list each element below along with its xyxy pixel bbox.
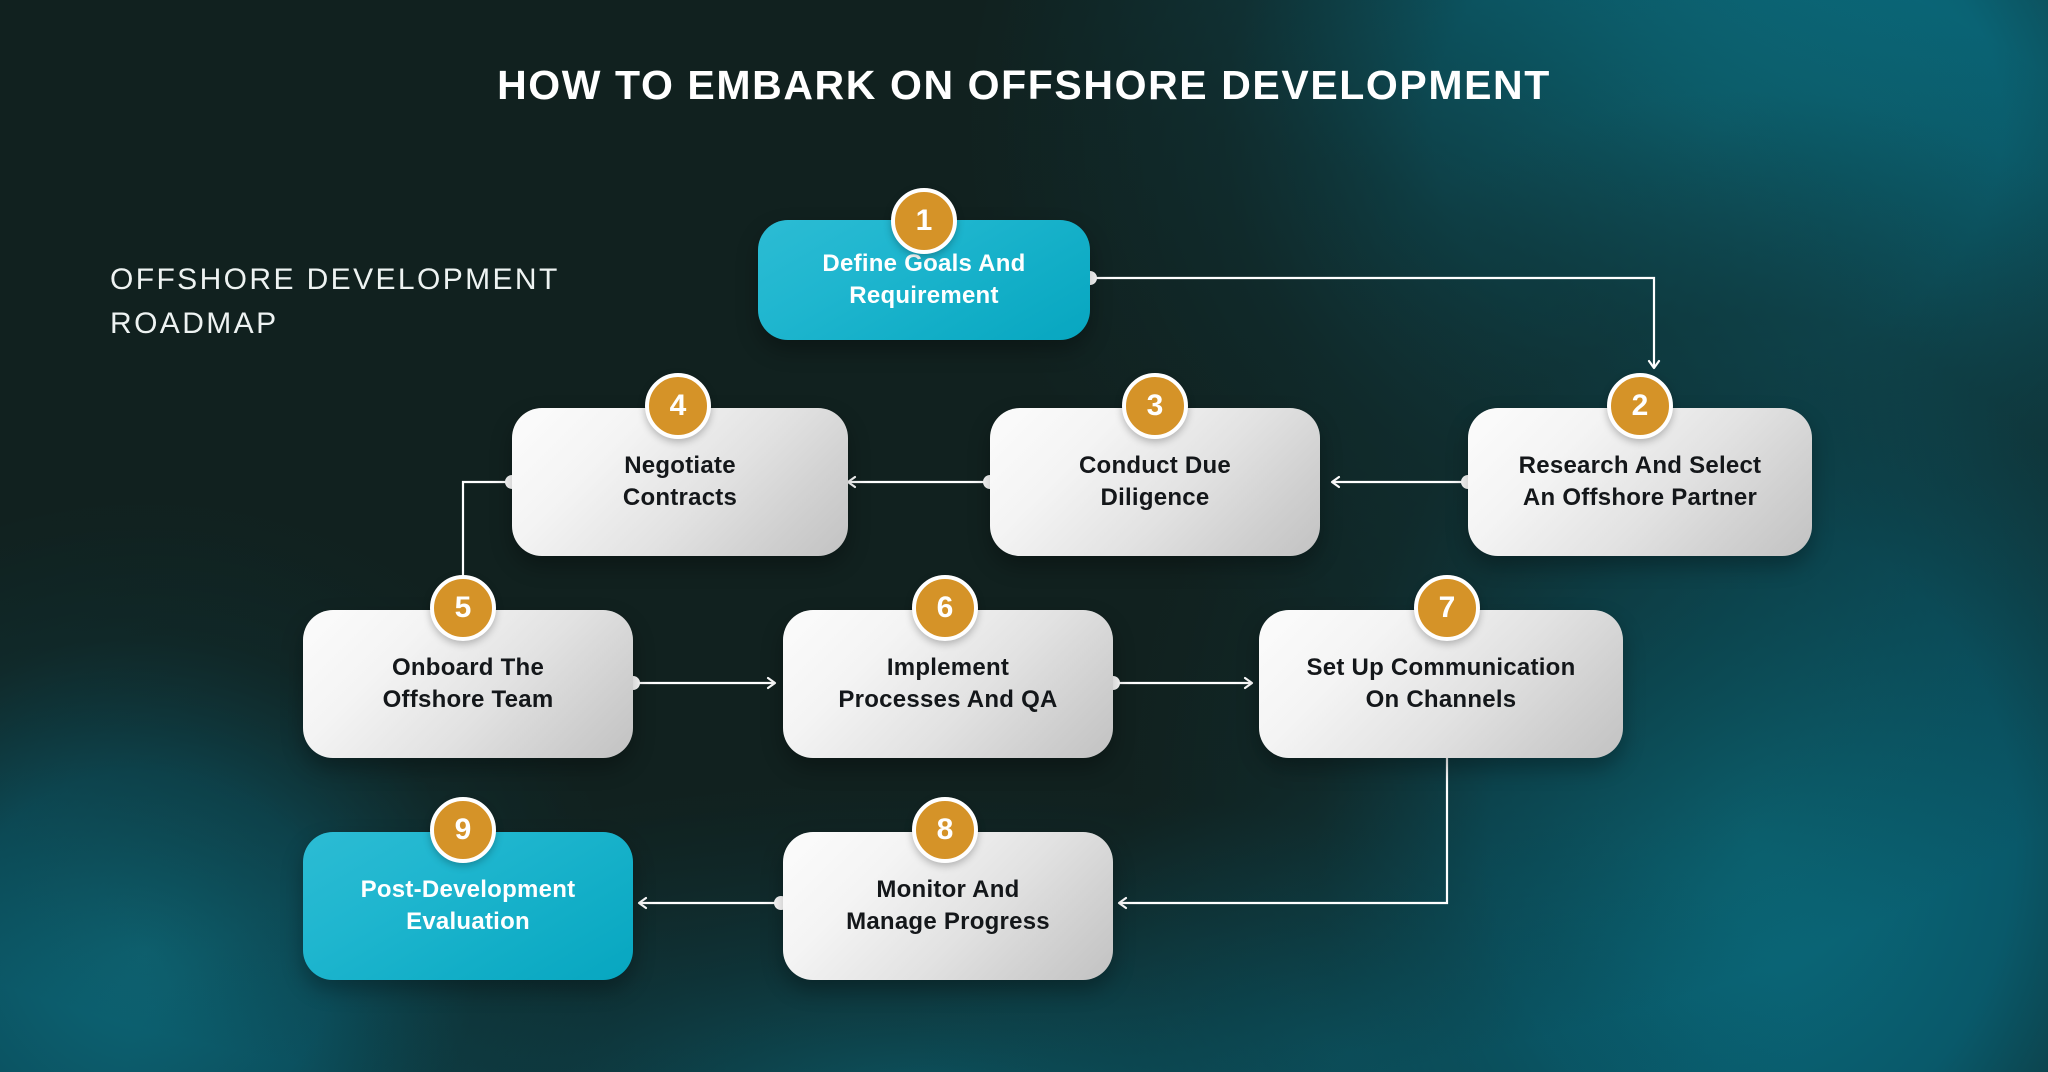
infographic-canvas: HOW TO EMBARK ON OFFSHORE DEVELOPMENT OF… xyxy=(0,0,2048,1072)
step-label-9: Post-Development Evaluation xyxy=(345,874,592,937)
background-glow-bottom-left xyxy=(0,502,620,1072)
roadmap-subtitle: OFFSHORE DEVELOPMENT ROADMAP xyxy=(110,258,650,347)
step-badge-6: 6 xyxy=(912,575,978,641)
step-badge-9: 9 xyxy=(430,797,496,863)
page-title: HOW TO EMBARK ON OFFSHORE DEVELOPMENT xyxy=(0,62,2048,109)
step-badge-7: 7 xyxy=(1414,575,1480,641)
step-badge-5: 5 xyxy=(430,575,496,641)
step-badge-4: 4 xyxy=(645,373,711,439)
step-label-2: Research And Select An Offshore Partner xyxy=(1503,450,1778,513)
step-label-1: Define Goals And Requirement xyxy=(806,248,1041,311)
step-label-5: Onboard The Offshore Team xyxy=(367,652,570,715)
step-label-7: Set Up Communication On Channels xyxy=(1290,652,1591,715)
step-badge-2: 2 xyxy=(1607,373,1673,439)
step-badge-8: 8 xyxy=(912,797,978,863)
connector-7-to-8 xyxy=(1119,749,1447,903)
background-glow-right xyxy=(1128,90,2048,1072)
step-label-6: Implement Processes And QA xyxy=(822,652,1073,715)
step-label-3: Conduct Due Diligence xyxy=(1063,450,1247,513)
step-badge-3: 3 xyxy=(1122,373,1188,439)
step-label-8: Monitor And Manage Progress xyxy=(830,874,1066,937)
connector-1-to-2 xyxy=(1090,278,1654,368)
step-label-4: Negotiate Contracts xyxy=(607,450,753,513)
step-badge-1: 1 xyxy=(891,188,957,254)
